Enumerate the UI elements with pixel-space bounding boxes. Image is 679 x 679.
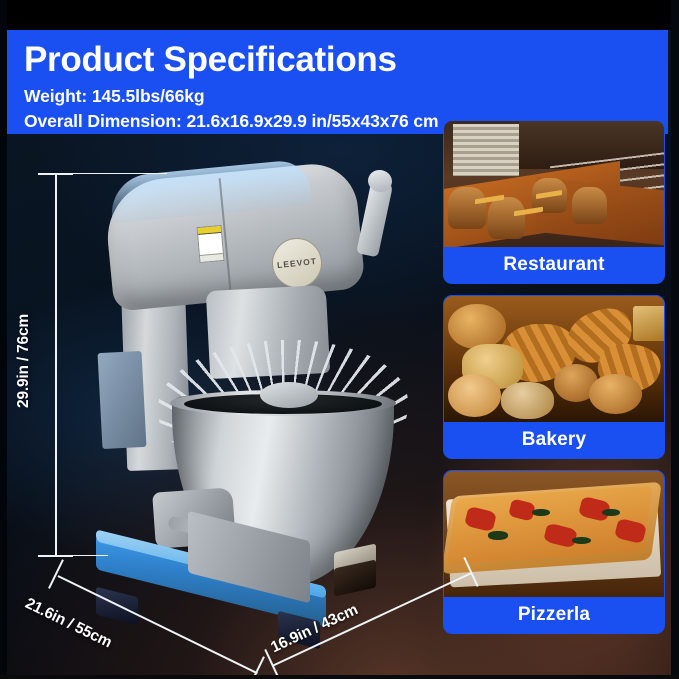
warning-sticker-text — [200, 253, 224, 262]
use-case-label-pizzeria: Pizzerla — [444, 597, 664, 633]
use-case-label-bakery: Bakery — [444, 422, 664, 458]
use-case-card-bakery[interactable]: Bakery — [443, 295, 665, 459]
herb-leaf — [572, 537, 592, 545]
mixer-product-photo: LEEVOT — [72, 160, 442, 630]
mixer-base — [82, 540, 382, 630]
dining-chair — [488, 197, 525, 240]
frame-border-right — [671, 0, 679, 679]
frame-border-left — [0, 0, 7, 679]
page-title: Product Specifications — [24, 40, 668, 80]
agitator-hub — [260, 382, 318, 408]
frame-border-top — [0, 0, 679, 30]
mixer-side-plate — [98, 351, 147, 449]
base-foot-left — [96, 587, 138, 625]
dusted-bun — [501, 382, 554, 420]
weight-spec: Weight: 145.5lbs/66kg — [24, 84, 668, 109]
product-specification-image: Product Specifications Weight: 145.5lbs/… — [0, 0, 679, 679]
bread-loaf — [633, 306, 664, 341]
bakery-photo — [444, 296, 664, 422]
round-loaf — [448, 374, 501, 417]
use-case-label-restaurant: Restaurant — [444, 247, 664, 283]
herb-leaf — [488, 531, 508, 540]
use-case-card-pizzeria[interactable]: Pizzerla — [443, 470, 665, 634]
use-case-card-list: Restaurant Bakery — [443, 120, 665, 645]
frame-border-bottom — [0, 675, 679, 679]
restaurant-photo — [444, 121, 664, 247]
warning-sticker-pictogram — [198, 233, 223, 255]
window-blinds — [453, 124, 519, 177]
herb-leaf — [532, 509, 550, 517]
glazed-bun — [589, 374, 642, 414]
pizza-photo — [444, 471, 664, 597]
bread-roll — [448, 304, 505, 349]
warning-sticker — [196, 225, 224, 263]
specifications-header: Product Specifications Weight: 145.5lbs/… — [7, 30, 668, 134]
dining-chair — [572, 187, 607, 225]
use-case-card-restaurant[interactable]: Restaurant — [443, 120, 665, 284]
dining-chair — [448, 187, 485, 230]
